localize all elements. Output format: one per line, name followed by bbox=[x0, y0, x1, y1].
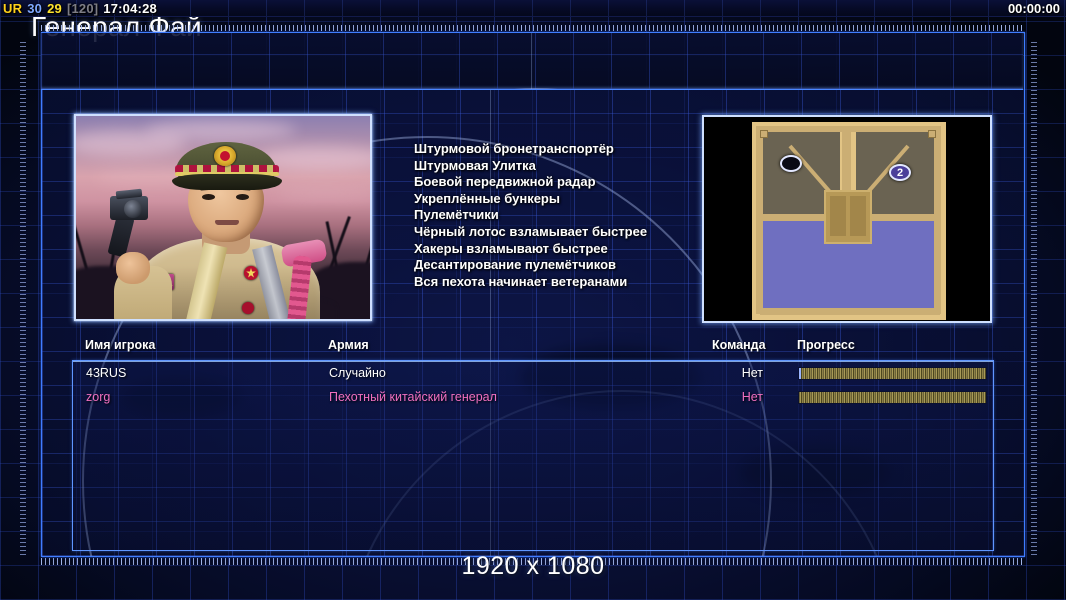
cell-player-name: 43RUS bbox=[86, 366, 126, 380]
game-lobby-screen: UR 30 29 [120] 17:04:28 00:00:00 Генерал… bbox=[0, 0, 1066, 600]
progress-bar-fill bbox=[799, 392, 986, 403]
frame-cap-value: [120] bbox=[67, 1, 98, 16]
column-header-army: Армия bbox=[328, 338, 369, 352]
start-position-label: 2 bbox=[897, 167, 903, 179]
cloud bbox=[276, 186, 370, 202]
cell-progress bbox=[798, 390, 987, 404]
match-timer: 00:00:00 bbox=[1008, 0, 1060, 17]
ruler-top bbox=[41, 25, 1025, 31]
ability-item: Вся пехота начинает ветеранами bbox=[414, 274, 647, 291]
progress-bar-fill bbox=[799, 368, 986, 379]
progress-bar bbox=[798, 391, 987, 404]
portrait-artwork bbox=[76, 116, 370, 319]
column-header-player-name: Имя игрока bbox=[85, 338, 155, 352]
ability-item: Хакеры взламывают быстрее bbox=[414, 241, 647, 258]
table-row[interactable]: zorg Пехотный китайский генерал Нет bbox=[73, 385, 993, 409]
minimap-canvas: 2 bbox=[752, 122, 946, 320]
status-bar-grid-pattern bbox=[0, 0, 1066, 16]
cell-army[interactable]: Случайно bbox=[329, 366, 386, 380]
general-medal bbox=[242, 302, 254, 314]
general-cap-brim bbox=[172, 174, 282, 190]
general-eye bbox=[236, 194, 249, 200]
general-eye bbox=[202, 194, 215, 200]
cell-army[interactable]: Пехотный китайский генерал bbox=[329, 390, 497, 404]
general-portrait bbox=[74, 114, 372, 321]
title-grid-pattern bbox=[41, 33, 1023, 89]
general-mouth bbox=[215, 220, 239, 225]
column-header-team: Команда bbox=[712, 338, 766, 352]
minimap-start-position-1[interactable] bbox=[780, 155, 802, 172]
minimap-corner-marker bbox=[928, 130, 936, 138]
player-table: 43RUS Случайно Нет zorg Пехотный китайск… bbox=[72, 360, 994, 551]
match-timer-value: 00:00:00 bbox=[1008, 1, 1060, 16]
general-hand bbox=[116, 252, 150, 284]
general-cap-badge bbox=[214, 146, 236, 166]
minimap-start-position-2[interactable]: 2 bbox=[889, 164, 911, 181]
minimap-center-structure bbox=[850, 196, 866, 236]
progress-bar bbox=[798, 367, 987, 380]
ability-item: Укреплённые бункеры bbox=[414, 191, 647, 208]
progress-bar-leading-edge bbox=[799, 368, 801, 379]
ur-label: UR bbox=[3, 1, 22, 16]
ability-item: Пулемётчики bbox=[414, 207, 647, 224]
ability-item: Десантирование пулемётчиков bbox=[414, 257, 647, 274]
minimap-center-structure bbox=[830, 196, 846, 236]
top-status-bar: UR 30 29 [120] 17:04:28 00:00:00 bbox=[0, 0, 1066, 17]
general-abilities-list: Штурмовой бронетранспортёр Штурмовая Ули… bbox=[414, 141, 647, 290]
ability-item: Боевой передвижной радар bbox=[414, 174, 647, 191]
ruler-left bbox=[20, 40, 26, 555]
cell-team[interactable]: Нет bbox=[713, 390, 763, 404]
ability-item: Чёрный лотос взламывает быстрее bbox=[414, 224, 647, 241]
cell-player-name: zorg bbox=[86, 390, 110, 404]
general-medal bbox=[244, 266, 258, 280]
map-preview[interactable]: 2 bbox=[702, 115, 992, 323]
ability-item: Штурмовой бронетранспортёр bbox=[414, 141, 647, 158]
pistol-cylinder bbox=[124, 200, 142, 218]
minimap-road-south bbox=[760, 308, 940, 315]
ability-item: Штурмовая Улитка bbox=[414, 158, 647, 175]
table-row[interactable]: 43RUS Случайно Нет bbox=[73, 361, 993, 385]
cloud bbox=[146, 120, 296, 140]
fps-alt-value: 29 bbox=[47, 1, 62, 16]
panel-title-bar bbox=[41, 33, 1023, 90]
resolution-label: 1920 x 1080 bbox=[0, 552, 1066, 581]
cell-progress bbox=[798, 366, 987, 380]
ruler-right bbox=[1031, 40, 1037, 555]
fps-value: 30 bbox=[27, 1, 42, 16]
performance-readout: UR 30 29 [120] 17:04:28 bbox=[3, 0, 157, 17]
system-clock: 17:04:28 bbox=[103, 1, 157, 16]
column-header-progress: Прогресс bbox=[797, 338, 855, 352]
decorative-vertical-line bbox=[531, 33, 532, 90]
cell-team[interactable]: Нет bbox=[713, 366, 763, 380]
minimap-corner-marker bbox=[760, 130, 768, 138]
player-table-header: Имя игрока Армия Команда Прогресс bbox=[42, 338, 1024, 358]
